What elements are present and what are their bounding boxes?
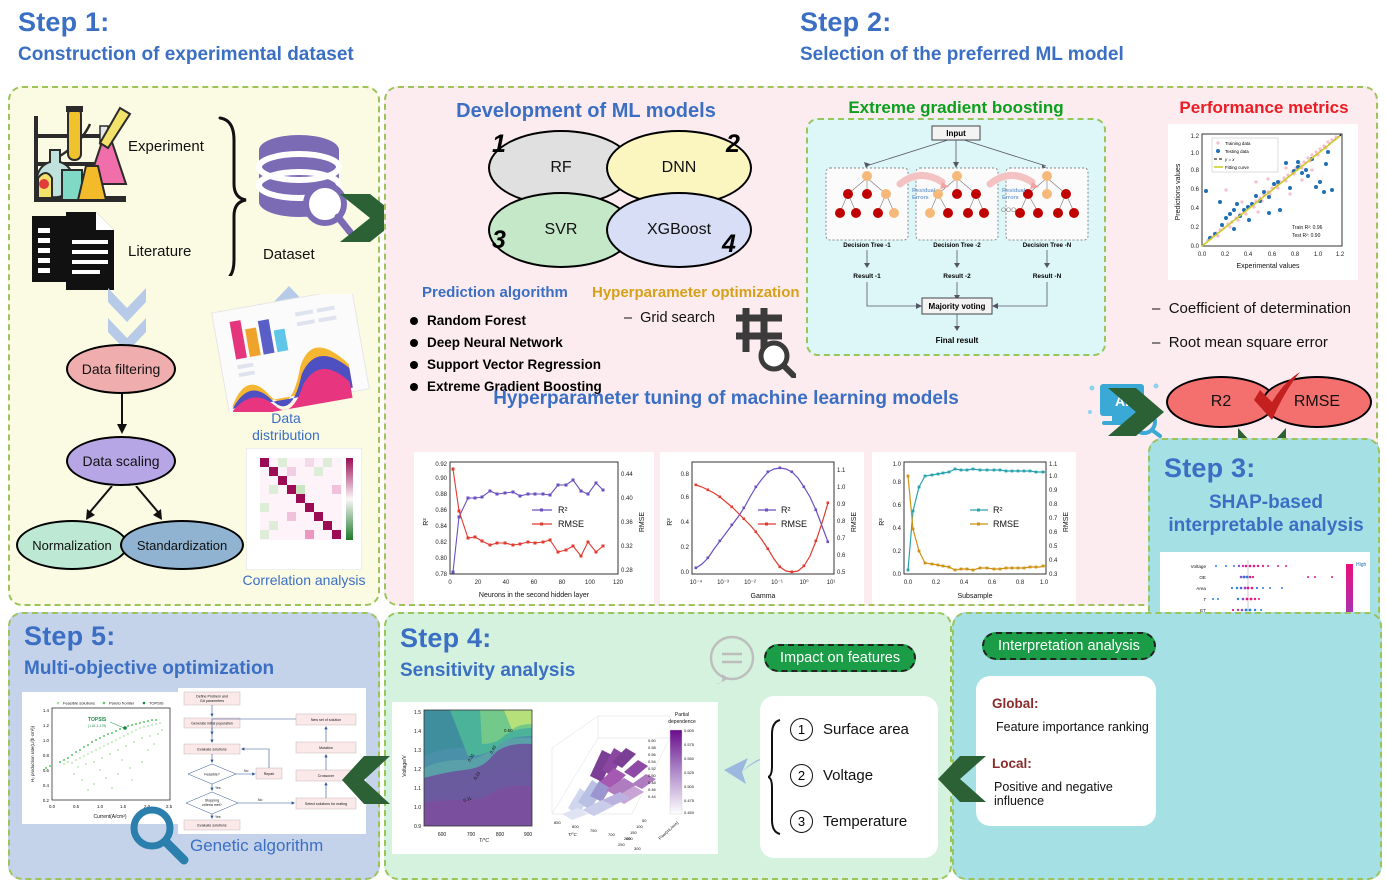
svg-text:0.8: 0.8 [837,519,846,525]
svg-text:0.500: 0.500 [684,784,695,789]
svg-text:R²: R² [781,505,791,515]
svg-text:H₂ production rate(L/(h·cm²)): H₂ production rate(L/(h·cm²)) [30,725,35,782]
list-item: 1 Surface area [790,718,909,741]
svg-text:Training data: Training data [1225,141,1251,146]
svg-text:1.0: 1.0 [414,805,421,811]
svg-text:OE: OE [1199,575,1206,580]
standardization-node: Standardization [120,520,244,570]
step1-panel: Experiment Literature Dataset Data filte… [8,86,380,606]
model-label-rf: RF [550,159,571,177]
svg-text:Subsample: Subsample [957,593,992,600]
global-text: Feature importance ranking [996,720,1149,734]
data-distribution-thumbnail [210,294,370,412]
svg-text:Area: Area [1196,586,1206,591]
model-number-3: 3 [492,226,506,255]
svg-text:T/°C: T/°C [479,838,489,844]
svg-text:0.8: 0.8 [1016,580,1025,586]
normalization-node: Normalization [16,520,128,570]
svg-text:0.0: 0.0 [1198,252,1207,258]
svg-text:0.2: 0.2 [932,580,941,586]
svg-text:0.4: 0.4 [43,783,50,788]
svg-text:OOO: OOO [1001,207,1016,214]
rank-label: Voltage [823,767,873,784]
svg-text:0.2: 0.2 [1191,225,1200,231]
xgb-flow-svg: Input [808,120,1104,354]
literature-label: Literature [128,243,191,260]
rank-label: Surface area [823,721,909,738]
data-filtering-node: Data filtering [66,344,176,394]
svg-text:0.6: 0.6 [1191,187,1200,193]
model-label-xgboost: XGBoost [647,221,711,239]
svg-text:10¹: 10¹ [827,580,836,586]
residual-label: Residual [912,188,936,194]
svg-text:0.8: 0.8 [43,753,50,758]
svg-text:GA parameters: GA parameters [200,699,224,703]
step3-number: Step 3: [1164,454,1368,483]
svg-text:High: High [1356,562,1367,568]
svg-text:0.44: 0.44 [621,472,633,478]
xgb-title: Extreme gradient boosting [816,98,1096,118]
svg-text:Errors: Errors [912,195,929,201]
svg-text:0.0: 0.0 [904,580,913,586]
svg-text:0.450: 0.450 [684,810,695,815]
svg-text:0.2: 0.2 [681,545,690,551]
bullet-dot-icon [410,317,418,325]
svg-text:150: 150 [630,830,637,835]
list-item: Support Vector Regression [410,354,602,376]
svg-text:0.46: 0.46 [648,787,657,792]
svg-text:0.4: 0.4 [681,520,690,526]
svg-text:R²: R² [558,505,568,515]
metric-item-r2: – Coefficient of determination [1152,300,1351,317]
chart-performance-parity-plot: 0.00.2 0.40.6 0.81.0 1.2 0.00.2 0.40.6 0… [1168,124,1358,280]
svg-text:0.40: 0.40 [621,496,633,502]
svg-text:0.475: 0.475 [684,798,695,803]
interpretation-analysis-pill[interactable]: Interpretation analysis [982,632,1156,660]
svg-text:Experimental values: Experimental values [1236,263,1300,270]
chart-svr-gamma-tuning: 0.00.2 0.40.6 0.8 0.50.6 0.70.8 0.91.0 1… [660,452,864,604]
step1-title: Construction of experimental dataset [18,45,354,66]
dataset-label: Dataset [263,246,315,263]
svg-text:0.32: 0.32 [621,544,633,550]
svg-text:0.550: 0.550 [684,756,695,761]
svg-text:RMSE: RMSE [558,519,584,529]
global-label: Global: [992,696,1039,711]
svg-text:0.28: 0.28 [621,568,633,574]
svg-text:0.0: 0.0 [893,572,902,578]
step1-number: Step 1: [18,8,354,37]
step5-heading: Step 5: Multi-objective optimization [24,622,274,680]
svg-text:Decision Tree -N: Decision Tree -N [1023,242,1072,249]
svg-text:0.9: 0.9 [414,824,421,830]
svg-text:Mutation: Mutation [319,746,333,750]
svg-text:10⁻³: 10⁻³ [717,580,729,586]
svg-text:800: 800 [496,832,505,838]
svg-text:Gamma: Gamma [751,593,776,600]
svg-text:0.90: 0.90 [435,476,447,482]
step5-number: Step 5: [24,622,274,651]
svg-text:1.0: 1.0 [1191,151,1200,157]
svg-text:RMSE: RMSE [851,512,858,533]
svg-text:Fitting curve: Fitting curve [1225,165,1249,170]
svg-text:0.2: 0.2 [893,549,902,555]
hyperparameter-optimization-title: Hyperparameter optimization [592,284,800,301]
svg-text:0.6: 0.6 [893,503,902,509]
step4-heading: Step 4: Sensitivity analysis [400,624,575,682]
svg-text:10⁰: 10⁰ [799,579,809,586]
step5-title: Multi-objective optimization [24,659,274,680]
svg-text:R²: R² [423,518,430,526]
genetic-algorithm-flowchart: Define Problem and GA parameters Generat… [178,688,366,834]
svg-text:y = x: y = x [1224,157,1235,162]
arrow-step4-to-step5 [340,754,392,806]
svg-text:10⁻⁴: 10⁻⁴ [690,579,703,586]
step4-panel: Step 4: Sensitivity analysis Impact on f… [384,612,952,880]
rank-label: Temperature [823,813,907,830]
svg-text:250: 250 [618,842,625,847]
svg-text:10⁻²: 10⁻² [744,580,756,586]
svg-text:Stopping: Stopping [205,799,219,803]
svg-text:0.9: 0.9 [1049,488,1058,494]
svg-text:0.8: 0.8 [1291,252,1300,258]
svg-text:0.8: 0.8 [1191,168,1200,174]
arrow-interpretation-to-step4 [938,754,988,804]
step2-heading: Step 2: Selection of the preferred ML mo… [800,8,1124,66]
svg-text:Evaluate solutions: Evaluate solutions [197,748,226,752]
svg-text:0.4: 0.4 [1244,252,1253,258]
svg-text:1.0: 1.0 [1049,474,1058,480]
step3-title-line1: SHAP-based [1164,493,1368,514]
svg-text:1.2: 1.2 [1336,252,1345,258]
bullet-dot-icon [410,361,418,369]
svg-text:700: 700 [608,832,615,837]
svg-text:0.56: 0.56 [648,752,657,757]
step2-title: Selection of the preferred ML model [800,45,1124,66]
correlation-analysis-caption: Correlation analysis [238,572,370,588]
svg-text:Test R²: 0.90: Test R²: 0.90 [1292,233,1321,239]
svg-text:Evaluate solutions: Evaluate solutions [197,824,226,828]
svg-text:1.0: 1.0 [97,804,104,809]
svg-text:0.6: 0.6 [837,553,846,559]
list-item: 2 Voltage [790,764,873,787]
svg-text:R²: R² [993,505,1003,515]
brace-icon [216,116,248,276]
svg-text:20: 20 [475,580,482,586]
svg-text:600: 600 [438,832,447,838]
prediction-algorithm-list: Random Forest Deep Neural Network Suppor… [410,310,602,397]
genetic-algorithm-caption: Genetic algorithm [190,836,323,856]
svg-text:0.4: 0.4 [893,526,902,532]
svg-text:T/°C: T/°C [568,832,578,837]
svg-text:850: 850 [554,820,561,825]
svg-text:900: 900 [524,832,533,838]
svg-text:dependence: dependence [668,719,696,725]
svg-text:Feasible?: Feasible? [204,772,220,776]
svg-text:1.0: 1.0 [893,462,902,468]
impact-on-features-pill[interactable]: Impact on features [764,644,916,672]
svg-text:1.1: 1.1 [837,468,846,474]
model-label-dnn: DNN [662,159,697,177]
svg-text:(1.61,1.179): (1.61,1.179) [88,724,106,728]
step3-lower-panel: Interpretation analysis Global: Feature … [952,612,1382,880]
data-distribution-caption: Data distribution [238,410,334,444]
chart-xgb-subsample-tuning: 0.00.2 0.40.6 0.81.0 0.00.2 0.40.6 0.81.… [872,452,1076,604]
svg-text:1.0: 1.0 [837,485,846,491]
chart-dnn-neurons-tuning: 0.780.80 0.820.84 0.860.88 0.900.92 020 … [414,452,654,604]
svg-text:Result -N: Result -N [1033,273,1062,280]
svg-text:RMSE: RMSE [639,512,646,533]
svg-text:TOPSIS: TOPSIS [149,701,164,706]
list-item: 3 Temperature [790,810,907,833]
local-text: Positive and negative influence [994,780,1156,808]
impact-pill-wrap: Impact on features [764,644,916,672]
svg-text:60: 60 [531,580,538,586]
svg-text:1.0: 1.0 [1314,252,1323,258]
svg-text:0.0: 0.0 [681,570,690,576]
svg-text:0.54: 0.54 [648,759,657,764]
arrow-filtering-to-scaling [115,394,129,436]
svg-text:0.6: 0.6 [988,580,997,586]
svg-text:Define Problem and: Define Problem and [196,695,228,699]
svg-text:100: 100 [585,580,596,586]
svg-text:1.4: 1.4 [43,708,50,713]
svg-text:R²: R² [879,518,886,526]
svg-text:0.5: 0.5 [837,570,846,576]
svg-text:Input: Input [946,129,966,138]
performance-metrics-title: Performance metrics [1154,98,1374,118]
svg-text:1.0: 1.0 [43,738,50,743]
svg-text:1.2: 1.2 [1191,134,1200,140]
model-number-1: 1 [492,130,506,159]
svg-text:Majority voting: Majority voting [929,302,986,311]
arrow-to-performance-metrics [1108,386,1164,438]
metric-item-rmse: – Root mean square error [1152,334,1328,351]
svg-text:0.4: 0.4 [1049,558,1058,564]
step3-heading: Step 3: SHAP-based interpretable analysi… [1164,454,1368,536]
svg-text:1.3: 1.3 [414,748,421,754]
hyperparameter-tuning-title: Hyperparameter tuning of machine learnin… [396,388,1056,410]
svg-text:0.8: 0.8 [893,480,902,486]
svg-text:0.60: 0.60 [648,738,657,743]
svg-text:Result -1: Result -1 [853,273,881,280]
svg-text:RMSE: RMSE [1063,512,1070,533]
model-number-2: 2 [726,130,740,159]
svg-text:0.0: 0.0 [49,804,56,809]
svg-text:200: 200 [624,836,631,841]
step3-title-line2: interpretable analysis [1164,516,1368,537]
svg-text:0.86: 0.86 [435,508,447,514]
laboratory-glassware-icon [20,104,150,212]
svg-text:0.6: 0.6 [1049,530,1058,536]
svg-text:0.2: 0.2 [43,798,50,803]
svg-text:0.78: 0.78 [435,572,447,578]
svg-text:Feasible solutions: Feasible solutions [63,701,95,706]
workflow-figure: Step 1: Construction of experimental dat… [0,0,1386,886]
svg-text:1.2: 1.2 [414,767,421,773]
arrows-scaling-to-methods [64,486,184,524]
brace-small-icon [768,718,784,836]
step1-heading: Step 1: Construction of experimental dat… [18,8,354,66]
svg-text:Decision Tree -1: Decision Tree -1 [843,242,891,249]
svg-text:Neurons in the second hidden l: Neurons in the second hidden layer [479,592,590,599]
svg-text:0.575: 0.575 [684,742,695,747]
chart-legend: Training data Testing data y = x Fitting… [1212,138,1278,172]
svg-text:1.0: 1.0 [1040,580,1049,586]
svg-text:TOPSIS: TOPSIS [88,717,107,723]
svg-text:0.600: 0.600 [684,728,695,733]
svg-text:0.7: 0.7 [837,536,846,542]
svg-text:Final result: Final result [936,336,979,345]
svg-text:0.4: 0.4 [1191,206,1200,212]
svg-text:0.50: 0.50 [504,728,513,733]
svg-text:0.0: 0.0 [1191,244,1200,250]
svg-text:0.2: 0.2 [1221,252,1230,258]
svg-text:Crossover: Crossover [318,774,335,778]
svg-text:0.52: 0.52 [648,766,657,771]
svg-text:0.36: 0.36 [621,520,633,526]
ranked-features-card: 1 Surface area 2 Voltage 3 Temperature [760,696,938,858]
svg-text:50: 50 [642,818,647,823]
svg-text:No: No [244,769,248,773]
svg-text:Train R²: 0.96: Train R²: 0.96 [1292,225,1323,231]
svg-text:Repair: Repair [264,772,275,776]
svg-text:Testing data: Testing data [1225,149,1249,154]
svg-text:10⁻¹: 10⁻¹ [771,580,783,586]
svg-text:300: 300 [634,846,641,851]
svg-text:0.9: 0.9 [837,502,846,508]
red-check-icon [1250,370,1304,422]
svg-text:Partial: Partial [675,712,689,718]
svg-text:1.2: 1.2 [43,723,50,728]
svg-text:Errors: Errors [1002,195,1019,201]
step4-number: Step 4: [400,624,575,653]
chart-sensitivity-plots: 0.91.0 1.11.2 1.31.4 1.5 600700 800900 T… [392,702,718,854]
svg-text:0.525: 0.525 [684,770,695,775]
svg-text:Voltage: Voltage [1191,564,1207,569]
rank-number: 3 [790,810,813,833]
svg-text:RMSE: RMSE [781,519,807,529]
literature-documents-icon [32,212,118,290]
svg-text:Decision Tree -2: Decision Tree -2 [933,242,981,249]
svg-text:1.5: 1.5 [414,710,421,716]
svg-text:0.88: 0.88 [435,492,447,498]
svg-text:criteria met?: criteria met? [202,803,222,807]
svg-text:0.48: 0.48 [648,780,657,785]
svg-text:0.8: 0.8 [1049,502,1058,508]
svg-text:0.50: 0.50 [648,773,657,778]
svg-text:0.5: 0.5 [73,804,80,809]
svg-text:0.80: 0.80 [435,556,447,562]
interpretation-card: Global: Feature importance ranking Local… [976,676,1156,826]
svg-text:Result -2: Result -2 [943,273,971,280]
svg-text:0.84: 0.84 [435,524,447,530]
svg-text:Yes: Yes [215,786,221,790]
svg-text:RMSE: RMSE [993,519,1019,529]
grid-search-icon [732,304,796,378]
svg-text:No: No [258,798,262,802]
svg-text:Current(A/cm²): Current(A/cm²) [93,814,126,820]
svg-text:700: 700 [467,832,476,838]
data-scaling-node: Data scaling [66,436,176,486]
svg-text:0.5: 0.5 [1049,544,1058,550]
svg-text:0.3: 0.3 [1049,572,1058,578]
svg-text:Yes: Yes [215,815,221,819]
step2-number: Step 2: [800,8,1124,37]
svg-text:R²: R² [667,518,674,526]
step5-panel: Step 5: Multi-objective optimization 0.2… [8,612,380,880]
svg-text:Predictions values: Predictions values [1175,163,1182,220]
svg-text:Pareto frontier: Pareto frontier [109,701,135,706]
svg-text:40: 40 [503,580,510,586]
svg-text:Residual: Residual [1002,188,1026,194]
rank-number: 2 [790,764,813,787]
correlation-heatmap-thumbnail [246,448,362,570]
svg-text:800: 800 [572,824,579,829]
svg-text:0.4: 0.4 [960,580,969,586]
svg-text:1.4: 1.4 [414,729,421,735]
rank-number: 1 [790,718,813,741]
step4-title: Sensitivity analysis [400,661,575,682]
xgb-diagram-panel: Input [806,118,1106,356]
list-item: Deep Neural Network [410,332,602,354]
svg-text:0.6: 0.6 [1268,252,1277,258]
svg-text:Voltage/V: Voltage/V [402,755,408,777]
development-ml-title: Development of ML models [406,100,766,123]
local-label: Local: [992,756,1032,771]
svg-text:0.82: 0.82 [435,540,447,546]
svg-text:1.1: 1.1 [414,786,421,792]
svg-text:0.7: 0.7 [1049,516,1058,522]
svg-text:80: 80 [559,580,566,586]
svg-text:750: 750 [590,828,597,833]
svg-text:0.58: 0.58 [648,745,657,750]
speech-bubble-icon [704,634,764,686]
svg-text:0.44: 0.44 [648,794,657,799]
grid-search-item: – Grid search [624,310,715,326]
svg-text:0.8: 0.8 [681,472,690,478]
svg-text:New set of solution: New set of solution [311,718,341,722]
model-label-svr: SVR [545,221,578,239]
interpretation-pill-wrap: Interpretation analysis [982,632,1156,660]
svg-text:100: 100 [636,824,643,829]
bullet-dot-icon [410,339,418,347]
model-number-4: 4 [722,230,736,259]
prediction-algorithm-title: Prediction algorithm [422,284,568,301]
list-item: Random Forest [410,310,602,332]
experiment-label: Experiment [128,138,204,155]
svg-text:120: 120 [613,580,624,586]
svg-text:0.92: 0.92 [435,462,447,468]
svg-text:0.6: 0.6 [681,495,690,501]
svg-text:1.1: 1.1 [1049,462,1058,468]
